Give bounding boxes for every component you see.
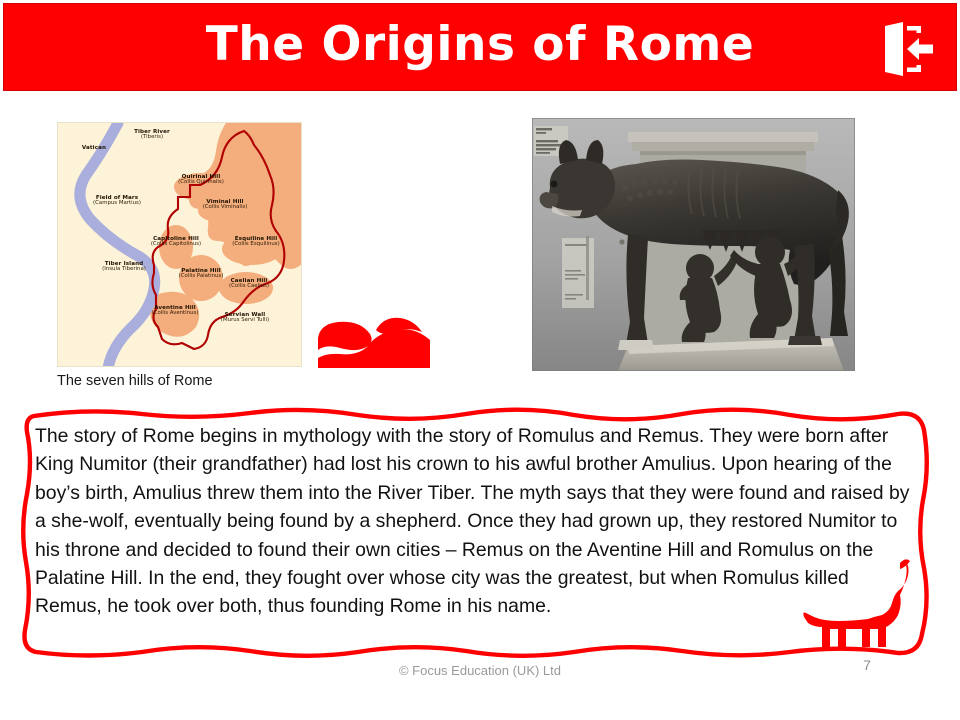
story-text-box: The story of Rome begins in mythology wi… (18, 404, 938, 664)
capitoline-wolf-statue-photo (532, 118, 855, 371)
story-paragraph: The story of Rome begins in mythology wi… (35, 422, 915, 621)
slide-canvas: The Origins of Rome (0, 0, 960, 720)
header-banner: The Origins of Rome (3, 3, 957, 91)
map-caption: The seven hills of Rome (57, 373, 317, 389)
seven-hills-map: Vatican Tiber River (Tiberis) Field of M… (57, 122, 302, 367)
page-title: The Origins of Rome (4, 15, 956, 75)
exit-door-arrow-icon (877, 20, 935, 78)
copyright-credit: © Focus Education (UK) Ltd (0, 663, 960, 678)
page-number: 7 (852, 657, 882, 673)
map-canvas: Vatican Tiber River (Tiberis) Field of M… (57, 122, 302, 367)
red-hills-icon (318, 312, 430, 368)
howling-wolf-silhouette-icon (800, 555, 912, 650)
